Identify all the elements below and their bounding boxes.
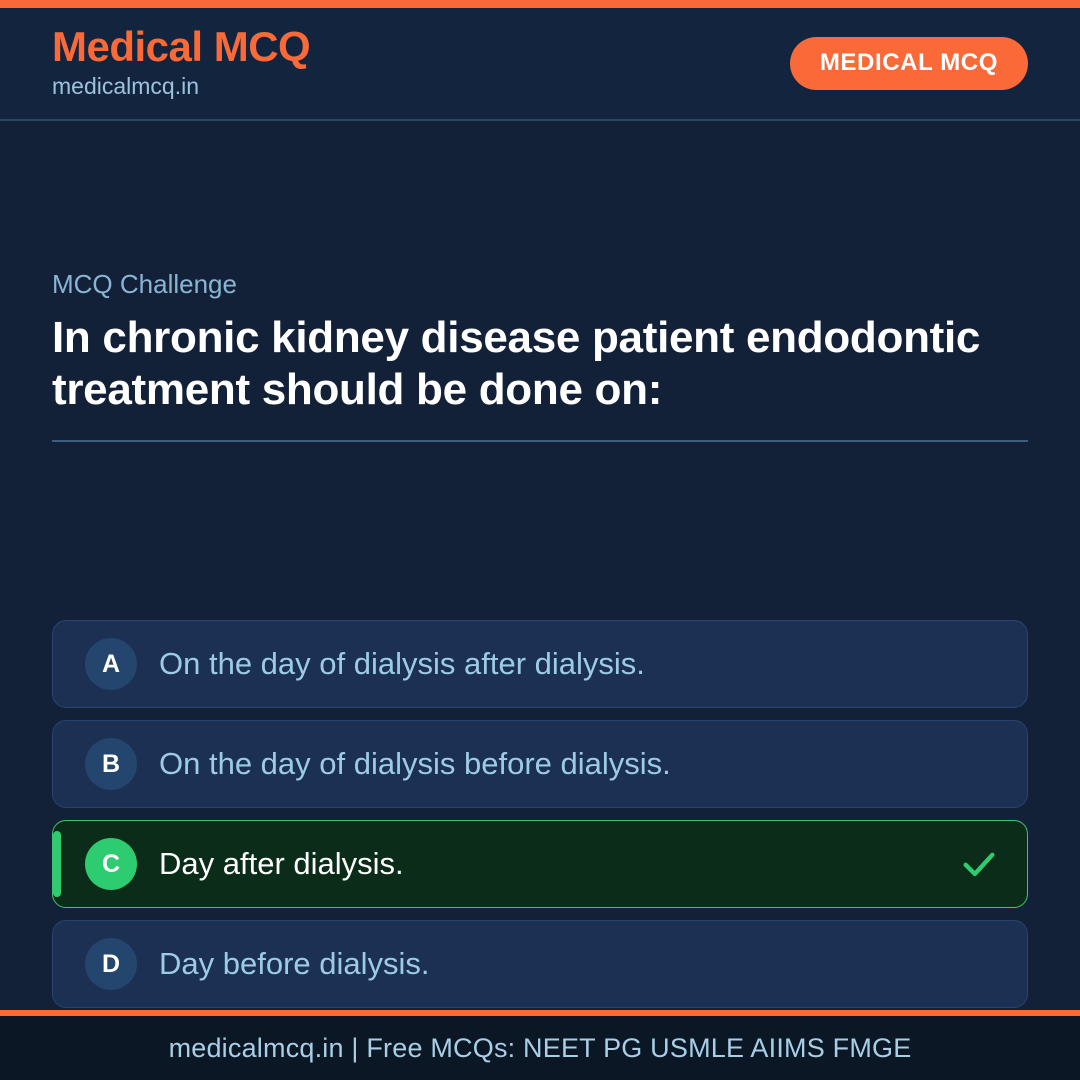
- brand-title: Medical MCQ: [52, 25, 310, 69]
- header-badge[interactable]: MEDICAL MCQ: [790, 37, 1028, 90]
- page-footer: medicalmcq.in | Free MCQs: NEET PG USMLE…: [0, 1016, 1080, 1080]
- check-icon: [959, 844, 999, 884]
- brand-block: Medical MCQ medicalmcq.in: [52, 25, 310, 102]
- question-block: MCQ Challenge In chronic kidney disease …: [52, 269, 1028, 442]
- top-accent-rule: [0, 0, 1080, 8]
- option-letter-badge: D: [85, 938, 137, 990]
- page-title: In chronic kidney disease patient endodo…: [52, 312, 1028, 416]
- brand-subtitle: medicalmcq.in: [52, 72, 310, 102]
- question-divider: [52, 440, 1028, 442]
- option-row-c[interactable]: C Day after dialysis.: [52, 820, 1028, 908]
- option-label: Day before dialysis.: [159, 945, 999, 982]
- option-letter-badge: A: [85, 638, 137, 690]
- mcq-card: Medical MCQ medicalmcq.in MEDICAL MCQ MC…: [0, 0, 1080, 1080]
- option-letter-badge: B: [85, 738, 137, 790]
- option-label: On the day of dialysis after dialysis.: [159, 645, 999, 682]
- footer-text: medicalmcq.in | Free MCQs: NEET PG USMLE…: [169, 1033, 912, 1064]
- option-row-b[interactable]: B On the day of dialysis before dialysis…: [52, 720, 1028, 808]
- option-label: On the day of dialysis before dialysis.: [159, 745, 999, 782]
- option-row-a[interactable]: A On the day of dialysis after dialysis.: [52, 620, 1028, 708]
- option-letter-badge: C: [85, 838, 137, 890]
- options-list: A On the day of dialysis after dialysis.…: [52, 620, 1028, 1020]
- correct-accent-bar: [53, 831, 61, 897]
- main-content: MCQ Challenge In chronic kidney disease …: [0, 121, 1080, 1010]
- app-header: Medical MCQ medicalmcq.in MEDICAL MCQ: [0, 8, 1080, 121]
- option-label: Day after dialysis.: [159, 845, 959, 882]
- question-eyebrow: MCQ Challenge: [52, 269, 1028, 300]
- option-row-d[interactable]: D Day before dialysis.: [52, 920, 1028, 1008]
